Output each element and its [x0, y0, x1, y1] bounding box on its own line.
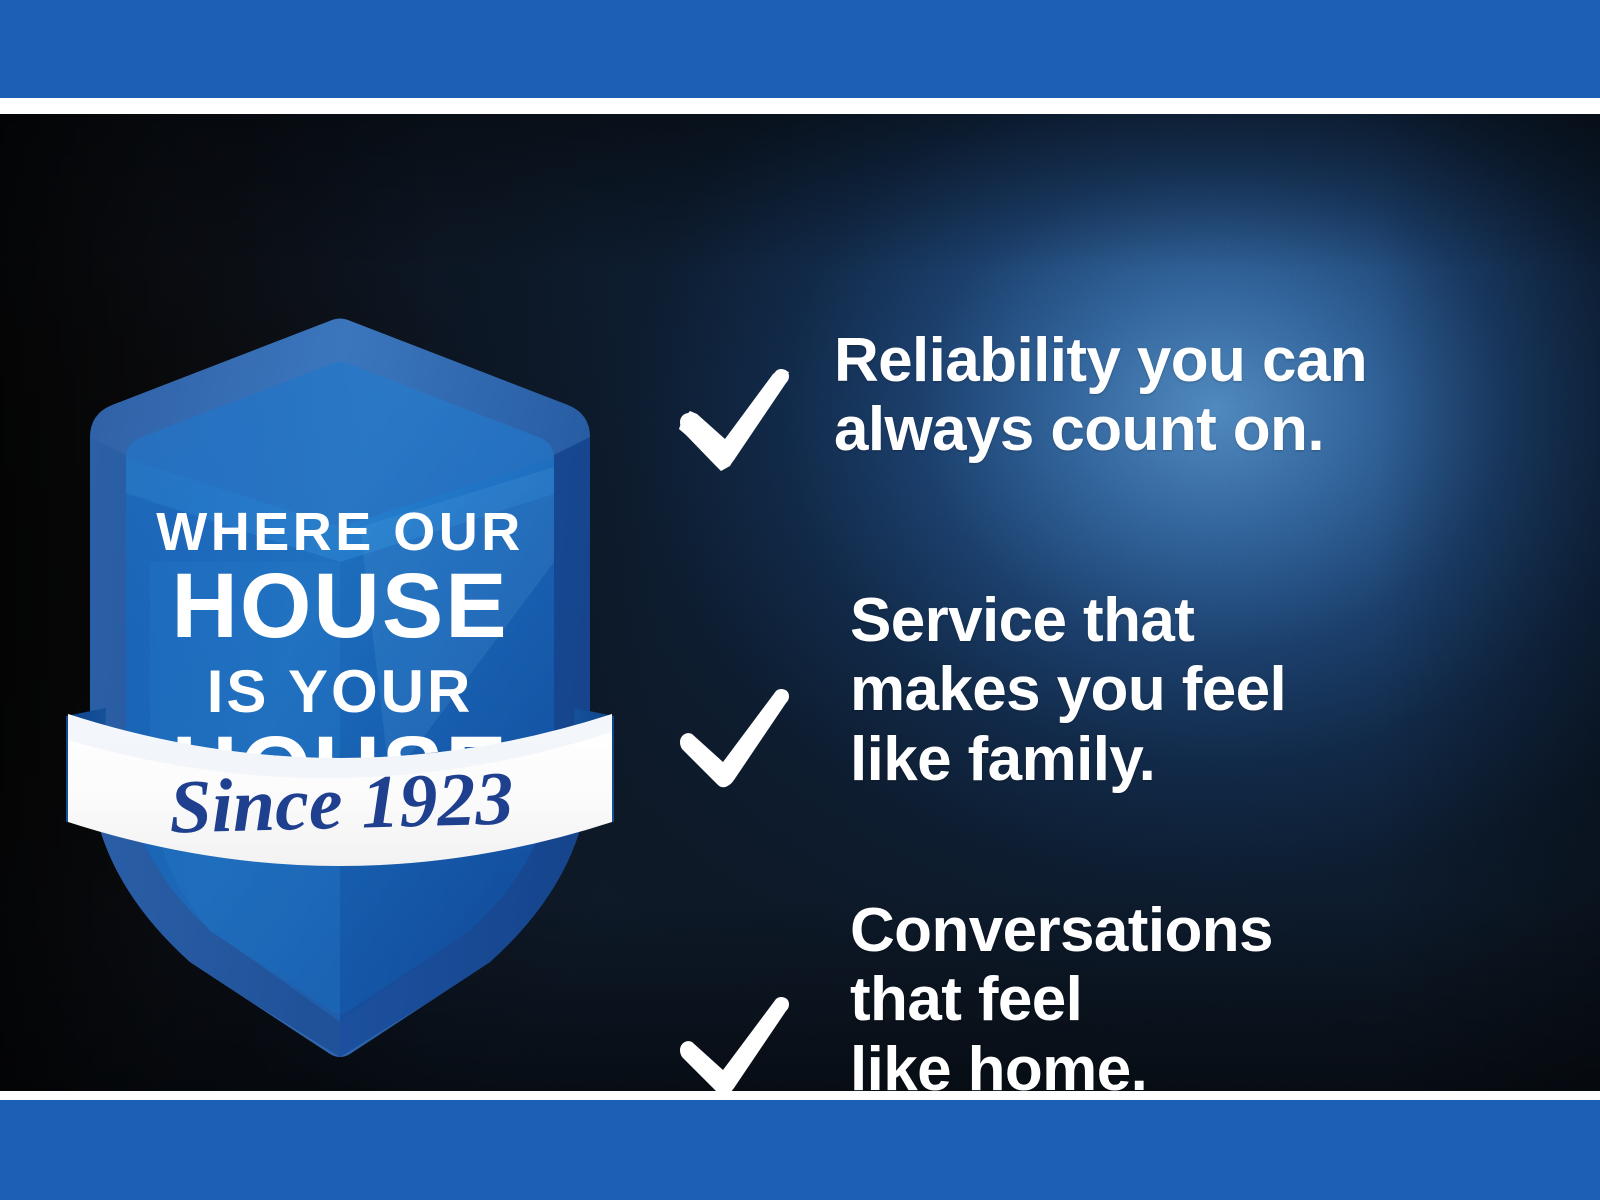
benefit-text-2: Service that makes you feel like family. [850, 586, 1286, 794]
shield-line-1: WHERE OUR [156, 502, 524, 562]
benefit-text-3: Conversations that feel like home. [850, 896, 1273, 1091]
ribbon-since-text: Since 1923 [168, 757, 514, 850]
benefit-item-2: Service that makes you feel like family. [668, 586, 1286, 800]
shield-emblem: WHERE OUR HOUSE IS YOUR HOUSE Since 1923 [60, 262, 620, 1062]
benefit-item-1: Reliability you can always count on. [668, 326, 1367, 480]
check-icon [668, 586, 798, 800]
benefit-item-3: Conversations that feel like home. [668, 896, 1273, 1091]
benefit-text-1: Reliability you can always count on. [834, 326, 1367, 465]
shield-line-2: HOUSE [171, 555, 508, 657]
promo-banner: WHERE OUR HOUSE IS YOUR HOUSE Since 1923 [0, 0, 1600, 1200]
check-icon [668, 326, 798, 480]
check-icon [668, 896, 798, 1091]
top-divider-rule [0, 98, 1600, 114]
bottom-divider-rule [0, 1091, 1600, 1100]
main-stage: WHERE OUR HOUSE IS YOUR HOUSE Since 1923 [0, 114, 1600, 1091]
benefits-list: Reliability you can always count on. Ser… [660, 304, 1560, 1091]
shield-line-3: IS YOUR [207, 658, 474, 725]
